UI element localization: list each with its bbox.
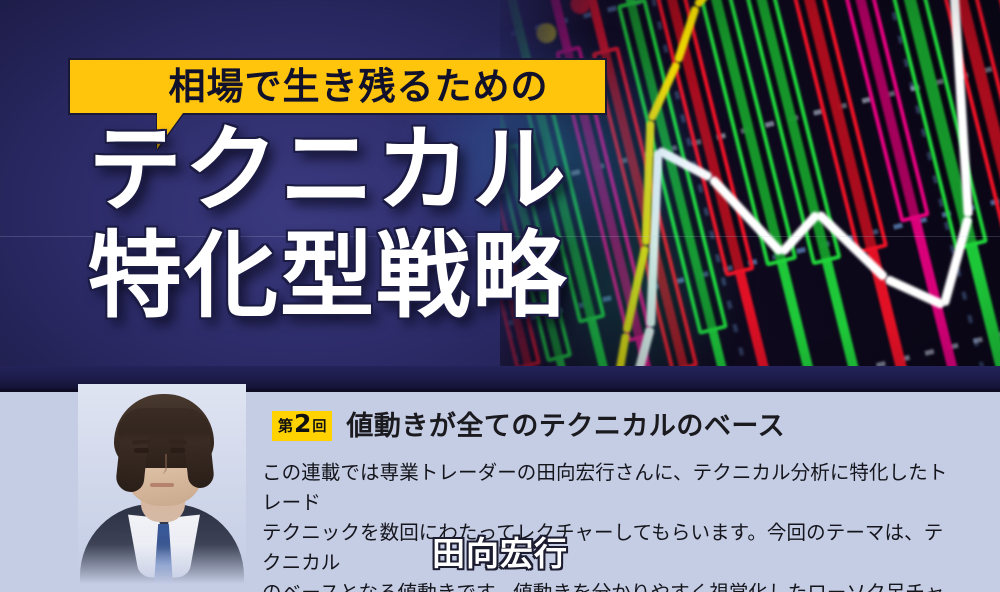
portrait-eye-left bbox=[134, 448, 149, 453]
article-band: 田向宏行 第 2 回 値動きが全てのテクニカルのベース この連載では専業トレーダ… bbox=[0, 392, 1000, 592]
article-body-line-3: のベースとなる値動きです。値動きを分かりやすく視覚化したローソク足チャートの bbox=[262, 578, 950, 592]
episode-number: 2 bbox=[294, 411, 311, 436]
magazine-header-page: 相場で生き残るための テクニカル 特化型戦略 bbox=[0, 0, 1000, 592]
portrait-mouth bbox=[150, 483, 174, 487]
article-body-line-1: この連載では専業トレーダーの田向宏行さんに、テクニカル分析に特化したトレード bbox=[262, 458, 950, 518]
portrait-nose bbox=[157, 454, 167, 474]
author-name-label: 田向宏行 bbox=[0, 537, 1000, 570]
episode-prefix: 第 bbox=[278, 419, 293, 434]
portrait-fringe bbox=[118, 408, 210, 442]
hero-section: 相場で生き残るための テクニカル 特化型戦略 bbox=[0, 0, 1000, 392]
episode-suffix: 回 bbox=[312, 420, 326, 434]
hero-title: テクニカル 特化型戦略 bbox=[88, 124, 728, 324]
article-body: この連載では専業トレーダーの田向宏行さんに、テクニカル分析に特化したトレード テ… bbox=[262, 458, 950, 592]
tagline-text: 相場で生き残るための bbox=[127, 68, 549, 105]
hero-title-line-2: 特化型戦略 bbox=[88, 230, 728, 324]
article-heading: 値動きが全てのテクニカルのベース bbox=[346, 413, 785, 440]
tagline-banner: 相場で生き残るための bbox=[68, 58, 607, 115]
hero-title-line-1: テクニカル bbox=[88, 124, 728, 218]
episode-badge: 第 2 回 bbox=[272, 411, 332, 441]
article-heading-row: 第 2 回 値動きが全てのテクニカルのベース bbox=[272, 411, 785, 441]
portrait-eye-right bbox=[170, 448, 185, 453]
